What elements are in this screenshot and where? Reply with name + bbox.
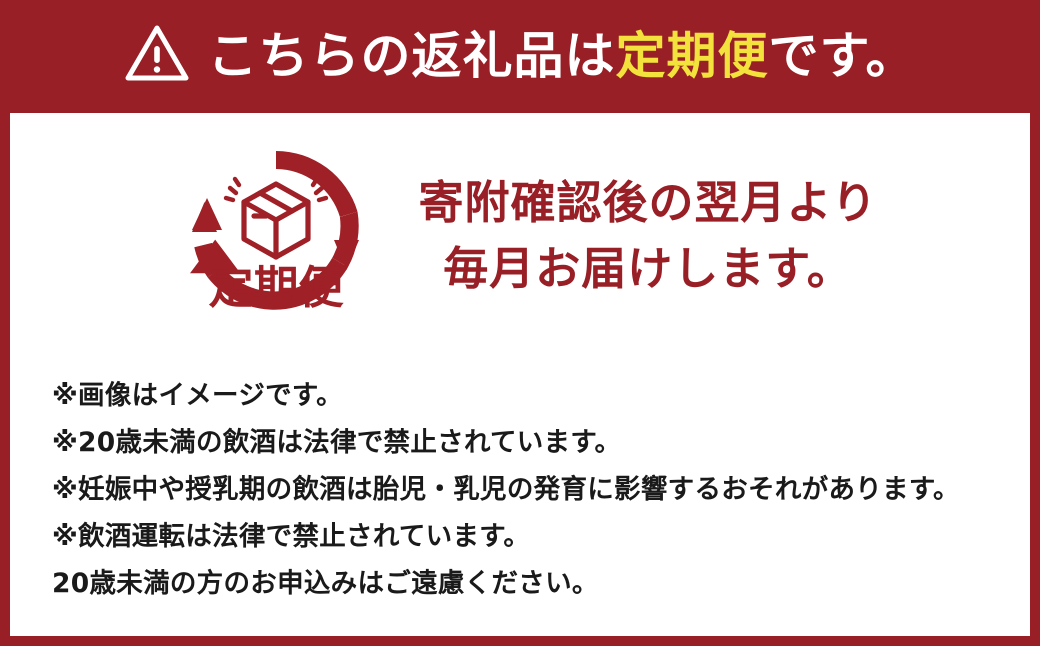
note-line: ※20歳未満の飲酒は法律で禁止されています。 <box>52 419 1012 466</box>
warning-triangle-icon <box>124 23 190 88</box>
delivery-message-line2: 毎月お届けします。 <box>443 242 853 295</box>
recurring-delivery-cycle-icon: 定期便 <box>162 140 390 332</box>
package-box-icon <box>244 184 308 257</box>
header-title-before: こちらの返礼品は <box>208 27 616 85</box>
note-line: ※飲酒運転は法律で禁止されています。 <box>52 513 1012 560</box>
delivery-message-line1: 寄附確認後の翌月より <box>418 176 877 229</box>
notes-list: ※画像はイメージです。 ※20歳未満の飲酒は法律で禁止されています。 ※妊娠中や… <box>52 372 1012 607</box>
note-line: ※妊娠中や授乳期の飲酒は胎児・乳児の発育に影響するおそれがあります。 <box>52 466 1012 513</box>
delivery-message: 寄附確認後の翌月より 毎月お届けします。 <box>418 170 877 301</box>
header-title-after: です。 <box>769 27 917 85</box>
logo-label: 定期便 <box>209 261 345 314</box>
header-content: こちらの返礼品は定期便です。 <box>124 23 917 88</box>
note-line: ※画像はイメージです。 <box>52 372 1012 419</box>
promo-banner: こちらの返礼品は定期便です。 <box>0 0 1040 646</box>
header-banner: こちらの返礼品は定期便です。 <box>0 0 1040 113</box>
delivery-info-section: 定期便 寄附確認後の翌月より 毎月お届けします。 <box>10 113 1030 358</box>
header-title: こちらの返礼品は定期便です。 <box>208 31 917 81</box>
header-title-highlight: 定期便 <box>616 27 769 85</box>
note-line: 20歳未満の方のお申込みはご遠慮ください。 <box>52 560 1012 607</box>
